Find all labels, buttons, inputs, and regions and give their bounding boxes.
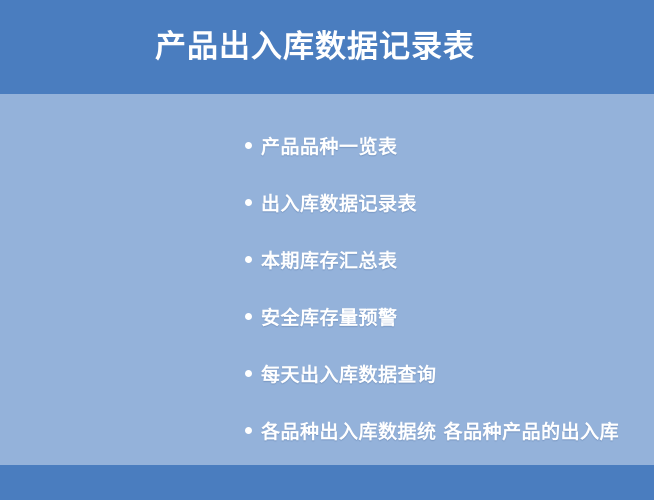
bullet-dot-icon: [245, 142, 252, 149]
bullet-dot-icon: [245, 370, 252, 377]
list-item[interactable]: 出入库数据记录表: [245, 174, 654, 231]
slide-title: 产品出入库数据记录表: [0, 30, 475, 64]
list-item-label: 出入库数据记录表: [261, 189, 417, 216]
presentation-slide: 产品出入库数据记录表 产品品种一览表 出入库数据记录表 本期库存汇总表 安全库存…: [0, 0, 654, 500]
bullet-dot-icon: [245, 427, 252, 434]
list-item-label: 产品品种一览表: [261, 132, 398, 159]
footer-band: [0, 465, 654, 500]
list-item[interactable]: 本期库存汇总表: [245, 231, 654, 288]
list-item[interactable]: 产品品种一览表: [245, 117, 654, 174]
list-item-label: 安全库存量预警: [261, 303, 398, 330]
list-item-label: 每天出入库数据查询: [261, 360, 437, 387]
list-item[interactable]: 安全库存量预警: [245, 288, 654, 345]
slide-body: 产品品种一览表 出入库数据记录表 本期库存汇总表 安全库存量预警 每天出入库数据…: [0, 94, 654, 465]
bullet-dot-icon: [245, 256, 252, 263]
list-item-label: 各品种出入库数据统 各品种产品的出入库: [261, 417, 619, 444]
list-item-label: 本期库存汇总表: [261, 246, 398, 273]
bullet-dot-icon: [245, 313, 252, 320]
title-band: 产品出入库数据记录表: [0, 0, 654, 94]
list-item[interactable]: 各品种出入库数据统 各品种产品的出入库: [245, 402, 654, 459]
bullet-list: 产品品种一览表 出入库数据记录表 本期库存汇总表 安全库存量预警 每天出入库数据…: [245, 117, 654, 459]
list-item[interactable]: 每天出入库数据查询: [245, 345, 654, 402]
bullet-dot-icon: [245, 199, 252, 206]
